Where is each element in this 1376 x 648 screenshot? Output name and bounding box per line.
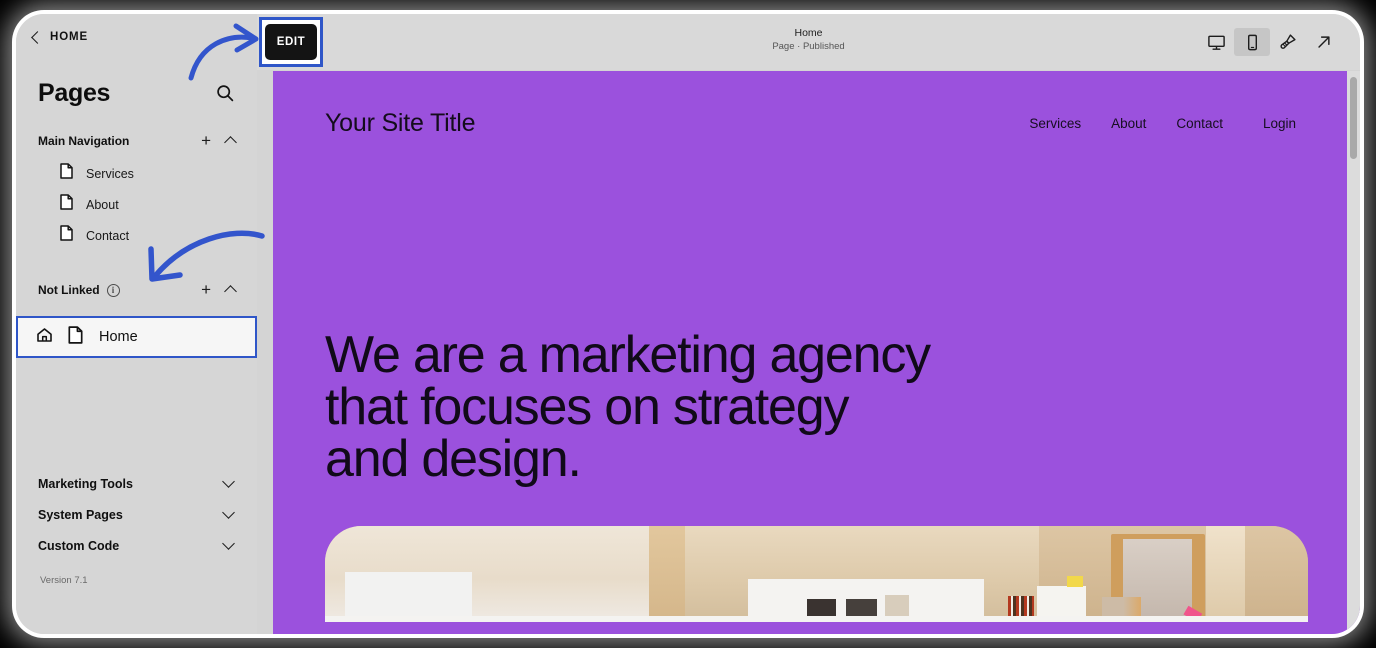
- page-icon: [60, 225, 73, 246]
- image-doorpost: [1206, 526, 1245, 622]
- page-icon: [60, 163, 73, 184]
- nav-link-login[interactable]: Login: [1263, 116, 1296, 131]
- section-main-navigation[interactable]: Main Navigation +: [16, 124, 257, 158]
- chevron-down-icon: [222, 506, 235, 519]
- nav-link-contact[interactable]: Contact: [1176, 116, 1223, 131]
- page-icon: [60, 194, 73, 215]
- home-icon: [36, 327, 53, 348]
- hero-image[interactable]: [325, 526, 1308, 622]
- edit-button-highlight: EDIT: [259, 17, 323, 67]
- toolbar-icon-group: [1198, 14, 1342, 70]
- mobile-view-icon[interactable]: [1234, 28, 1270, 56]
- site-title[interactable]: Your Site Title: [325, 109, 475, 138]
- hero-line-1: We are a marketing agency: [325, 329, 1085, 381]
- open-external-icon[interactable]: [1306, 28, 1342, 56]
- nav-link-about[interactable]: About: [1111, 116, 1146, 131]
- section-label: Main Navigation: [38, 134, 129, 148]
- section-not-linked[interactable]: Not Linked i +: [16, 273, 257, 307]
- chevron-up-icon[interactable]: [224, 285, 237, 298]
- hero-line-3: and design.: [325, 433, 1085, 485]
- version-label: Version 7.1: [16, 561, 257, 586]
- edit-button[interactable]: EDIT: [265, 24, 317, 60]
- app-window: HOME Pages Main Navigation +: [16, 14, 1360, 634]
- site-preview-canvas[interactable]: Your Site Title Services About Contact L…: [273, 71, 1360, 634]
- group-label: System Pages: [38, 508, 123, 522]
- hero-line-2: that focuses on strategy: [325, 381, 1085, 433]
- sidebar-bottom-pad: [16, 586, 257, 634]
- add-page-button[interactable]: +: [201, 135, 211, 147]
- sidebar-item-label: Services: [86, 167, 134, 181]
- desktop-view-icon[interactable]: [1198, 28, 1234, 56]
- sidebar-item-label: Home: [99, 329, 138, 345]
- preview-toolbar: Home Page · Published: [257, 14, 1360, 70]
- chevron-up-icon[interactable]: [224, 136, 237, 149]
- paintbrush-icon[interactable]: [1270, 28, 1306, 56]
- sidebar-item-home[interactable]: Home: [16, 316, 257, 358]
- preview-scrollbar-thumb[interactable]: [1350, 77, 1357, 159]
- sidebar-item-about[interactable]: About: [16, 189, 257, 220]
- image-desk-surface: [325, 616, 1308, 622]
- sidebar-item-contact[interactable]: Contact: [16, 220, 257, 251]
- chevron-down-icon: [222, 537, 235, 550]
- hero-heading[interactable]: We are a marketing agency that focuses o…: [325, 329, 1085, 485]
- sidebar-spacer: [16, 358, 257, 468]
- sidebar-item-label: About: [86, 198, 119, 212]
- nav-link-services[interactable]: Services: [1029, 116, 1081, 131]
- pages-sidebar: HOME Pages Main Navigation +: [16, 14, 257, 634]
- image-board-a: [345, 572, 473, 622]
- image-beam: [649, 526, 684, 622]
- sidebar-group-custom-code[interactable]: Custom Code: [16, 530, 257, 561]
- chevron-down-icon: [222, 475, 235, 488]
- search-icon[interactable]: [215, 83, 235, 103]
- sidebar-group-marketing-tools[interactable]: Marketing Tools: [16, 468, 257, 499]
- group-label: Marketing Tools: [38, 477, 133, 491]
- sidebar-item-label: Contact: [86, 229, 129, 243]
- current-page-status: Page · Published: [257, 40, 1360, 54]
- pages-header: Pages: [16, 60, 257, 112]
- image-sticky-note: [1067, 576, 1083, 588]
- back-link-label: HOME: [50, 31, 88, 43]
- sidebar-item-services[interactable]: Services: [16, 158, 257, 189]
- back-to-home-link[interactable]: HOME: [16, 14, 257, 60]
- site-header: Your Site Title Services About Contact L…: [273, 71, 1360, 176]
- sidebar-group-system-pages[interactable]: System Pages: [16, 499, 257, 530]
- page-title: Pages: [38, 79, 110, 108]
- chevron-left-icon: [31, 31, 44, 44]
- preview-scrollbar-track[interactable]: [1347, 71, 1360, 634]
- page-icon: [68, 326, 83, 349]
- group-label: Custom Code: [38, 539, 119, 553]
- add-page-button[interactable]: +: [201, 284, 211, 296]
- page-status-block: Home Page · Published: [257, 26, 1360, 54]
- info-icon[interactable]: i: [107, 284, 120, 297]
- site-nav-links: Services About Contact Login: [1029, 116, 1308, 131]
- current-page-title: Home: [257, 26, 1360, 40]
- section-label: Not Linked: [38, 283, 100, 297]
